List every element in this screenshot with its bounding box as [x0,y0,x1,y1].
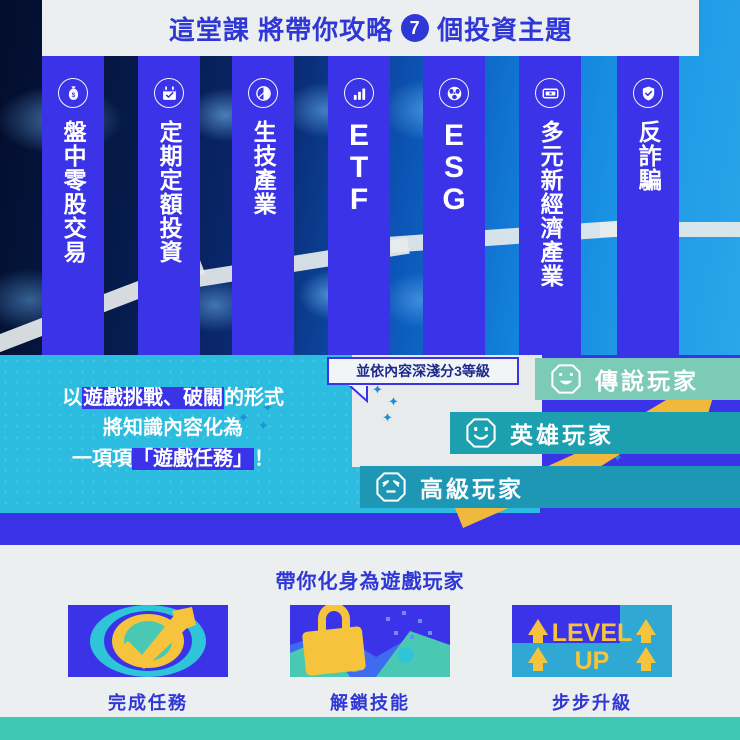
leaf-icon [248,78,278,108]
topic-label: 多元新經濟產業 [537,120,563,288]
player-tier[interactable]: 傳說玩家 [535,358,740,400]
slogan-line-1: 以遊戲挑戰、破關的形式 [8,383,338,413]
gamification-slogan: 以遊戲挑戰、破關的形式 將知識內容化為 一項項「遊戲任務」！ [8,383,338,474]
benefit-card-caption: 完成任務 [108,689,188,715]
slogan-text: 以 [62,387,82,409]
benefit-card[interactable]: 完成任務 [68,605,228,715]
topic-label: 生技產業 [250,120,276,216]
legend-face-icon [549,362,583,396]
tooltip-tail-icon [349,385,371,403]
calendar-check-icon [154,78,184,108]
topic-label: 盤中零股交易 [60,120,86,264]
globe-icon [439,78,469,108]
footer-strip [0,717,740,740]
slogan-highlight: 「遊戲任務」 [132,448,254,470]
svg-text:LEVEL: LEVEL [552,619,633,647]
slogan-line-2: 將知識內容化為 [8,413,338,443]
sparkle-icon: ✦ [382,411,393,424]
topic-column[interactable]: 定期定額投資 [138,56,200,355]
slogan-highlight: 遊戲挑戰、破關 [82,387,224,409]
topic-column[interactable]: 反詐騙 [617,56,679,355]
topic-label: 定期定額投資 [156,120,182,264]
tier-tooltip: 並依內容深淺分3等級 [327,357,519,385]
page-title-post: 個投資主題 [437,10,572,47]
hero-face-icon [464,416,498,450]
svg-text:UP: UP [575,647,610,675]
slogan-line-3: 一項項「遊戲任務」！ [8,444,338,474]
infographic-page: 這堂課 將帶你攻略 7 個投資主題 $盤中零股交易定期定額投資生技產業ETFES… [0,0,740,740]
page-title-pre: 這堂課 將帶你攻略 [169,10,393,47]
topic-column[interactable]: 多元新經濟產業 [519,56,581,355]
topic-column[interactable]: 生技產業 [232,56,294,355]
slogan-text: 一項項 [72,448,132,470]
player-tier-label: 高級玩家 [420,470,524,504]
benefit-card-caption: 解鎖技能 [330,689,410,715]
bottom-section-title: 帶你化身為遊戲玩家 [0,565,740,594]
benefit-card[interactable]: LEVELUP步步升級 [512,605,672,715]
topic-column[interactable]: $盤中零股交易 [42,56,104,355]
level-up-art: LEVELUP [512,605,672,677]
player-tier-label: 傳說玩家 [595,362,699,396]
topic-column[interactable]: ESG [423,56,485,355]
sparkle-icon: ✦ [388,395,399,408]
topic-column[interactable]: ETF [328,56,390,355]
topic-column-list: $盤中零股交易定期定額投資生技產業ETFESG多元新經濟產業反詐騙 [42,56,699,355]
bar-chart-icon [344,78,374,108]
page-title-plate: 這堂課 將帶你攻略 7 個投資主題 [42,0,699,56]
player-tier[interactable]: 高級玩家 [360,466,740,508]
shield-check-icon [633,78,663,108]
topic-label: ESG [442,120,465,215]
topic-count-badge: 7 [401,14,429,42]
benefit-card-list: 完成任務解鎖技能LEVELUP步步升級 [0,605,740,715]
slogan-text: ！ [254,448,274,470]
slogan-text: 的形式 [224,387,284,409]
money-bag-icon: $ [58,78,88,108]
player-tier[interactable]: 英雄玩家 [450,412,740,454]
player-tier-label: 英雄玩家 [510,416,614,450]
banknote-icon [535,78,565,108]
bottom-panel: 帶你化身為遊戲玩家 完成任務解鎖技能LEVELUP步步升級 [0,545,740,717]
padlock-art [290,605,450,677]
page-title: 這堂課 將帶你攻略 7 個投資主題 [169,10,572,47]
benefit-card-caption: 步步升級 [552,689,632,715]
topic-label: ETF [349,120,369,215]
benefit-card[interactable]: 解鎖技能 [290,605,450,715]
svg-text:$: $ [71,92,75,99]
advanced-face-icon [374,470,408,504]
target-check-art [68,605,228,677]
topic-label: 反詐騙 [635,120,661,192]
